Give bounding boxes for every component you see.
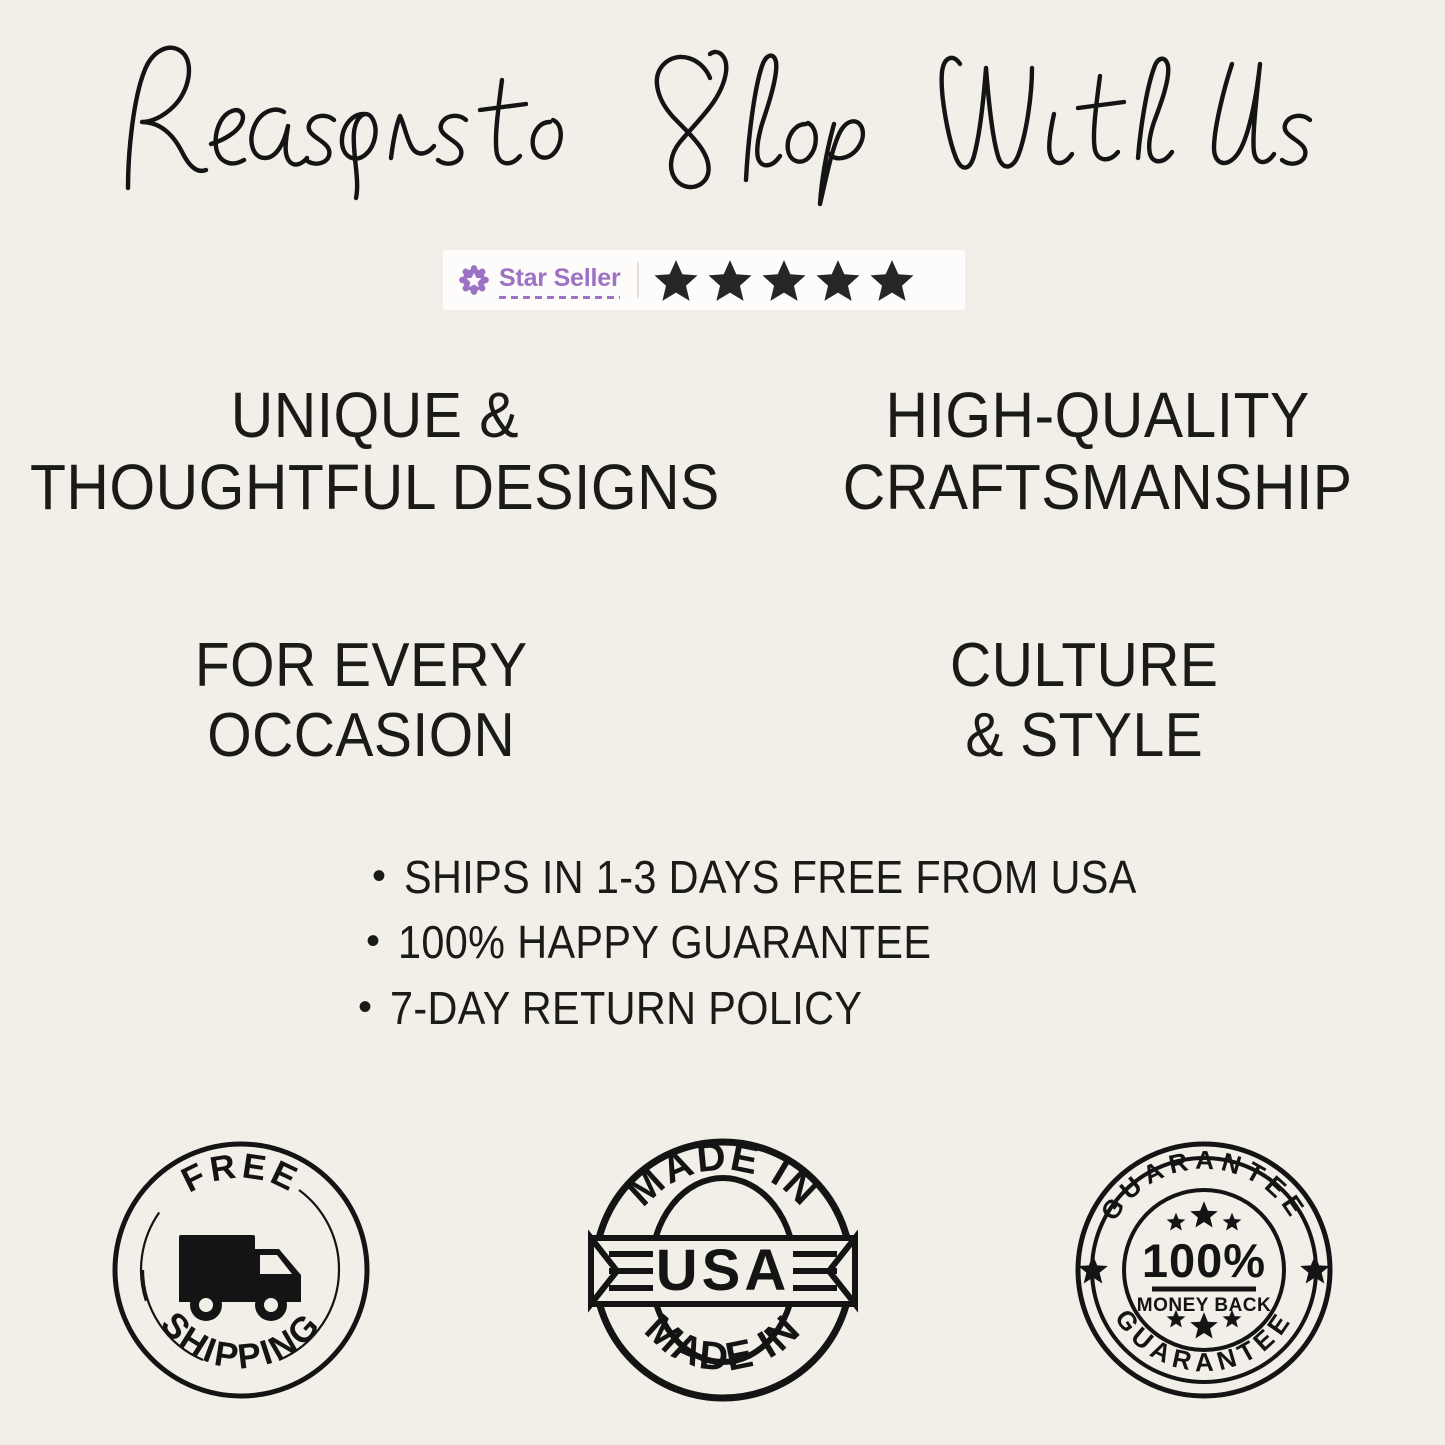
- badge-sub-text: MONEY BACK: [1137, 1295, 1272, 1316]
- bullet-icon: •: [358, 987, 372, 1027]
- page-title: [0, 28, 1445, 213]
- svg-text:SHIPPING: SHIPPING: [153, 1304, 329, 1376]
- money-back-guarantee-badge: GUARANTEE GUARANTEE: [963, 1139, 1445, 1401]
- svg-text:MADE IN: MADE IN: [636, 1306, 809, 1380]
- feature-for-every-occasion: FOR EVERY OCCASION: [0, 631, 723, 770]
- feature-line: & STYLE: [751, 701, 1416, 770]
- promo-graphic: Star Seller UNIQUE & THOUGHTFUL DESIGNS …: [0, 0, 1445, 1445]
- list-item: • 7-DAY RETURN POLICY: [358, 984, 1258, 1032]
- star-seller-label-group: Star Seller: [443, 250, 620, 310]
- star-icon: [706, 257, 754, 303]
- badge-divider: [637, 262, 639, 298]
- star-icon: [868, 257, 916, 303]
- list-item-label: SHIPS IN 1-3 DAYS FREE FROM USA: [404, 853, 1137, 901]
- svg-text:MADE IN: MADE IN: [619, 1134, 827, 1215]
- star-cluster-top: [1167, 1201, 1242, 1230]
- made-in-usa-badge: MADE IN MADE IN: [482, 1134, 964, 1406]
- feature-line: HIGH-QUALITY: [778, 380, 1418, 452]
- star-icon: [760, 257, 808, 303]
- free-shipping-badge: FREE SHIPPING: [0, 1139, 482, 1401]
- feature-row-1: UNIQUE & THOUGHTFUL DESIGNS HIGH-QUALITY…: [0, 380, 1445, 523]
- list-item-label: 100% HAPPY GUARANTEE: [398, 918, 931, 966]
- feature-line: OCCASION: [29, 701, 694, 770]
- badge-percent: 100%: [1142, 1234, 1266, 1287]
- list-item-label: 7-DAY RETURN POLICY: [390, 984, 862, 1032]
- badge-ribbon-text: USA: [655, 1238, 789, 1303]
- badge-top-text: MADE IN: [619, 1134, 827, 1215]
- star-icon: [814, 257, 862, 303]
- rating-stars: [652, 257, 916, 303]
- rosette-star-icon: [459, 265, 489, 295]
- ribbon: USA: [591, 1238, 855, 1304]
- bullet-icon: •: [372, 856, 386, 896]
- feature-high-quality-craftsmanship: HIGH-QUALITY CRAFTSMANSHIP: [750, 380, 1445, 523]
- feature-grid: UNIQUE & THOUGHTFUL DESIGNS HIGH-QUALITY…: [0, 380, 1445, 770]
- feature-line: CULTURE: [751, 631, 1416, 700]
- list-item: • SHIPS IN 1-3 DAYS FREE FROM USA: [358, 853, 1258, 901]
- bullet-icon: •: [366, 921, 380, 961]
- feature-line: UNIQUE &: [30, 380, 720, 452]
- policy-list: • SHIPS IN 1-3 DAYS FREE FROM USA • 100%…: [358, 853, 1258, 1049]
- feature-line: FOR EVERY: [29, 631, 694, 700]
- star-seller-label: Star Seller: [499, 266, 620, 294]
- feature-unique-thoughtful-designs: UNIQUE & THOUGHTFUL DESIGNS: [0, 380, 750, 523]
- feature-line: THOUGHTFUL DESIGNS: [30, 452, 720, 524]
- star-icon: [652, 257, 700, 303]
- star-seller-badge: Star Seller: [443, 250, 965, 310]
- badge-bottom-text: MADE IN: [636, 1306, 809, 1380]
- feature-line: CRAFTSMANSHIP: [778, 452, 1418, 524]
- feature-row-2: FOR EVERY OCCASION CULTURE & STYLE: [0, 631, 1445, 770]
- badge-bottom-text: SHIPPING: [153, 1304, 329, 1376]
- trust-badge-row: FREE SHIPPING: [0, 1120, 1445, 1420]
- delivery-truck-icon: [179, 1235, 301, 1321]
- list-item: • 100% HAPPY GUARANTEE: [358, 918, 1258, 966]
- feature-culture-style: CULTURE & STYLE: [723, 631, 1445, 770]
